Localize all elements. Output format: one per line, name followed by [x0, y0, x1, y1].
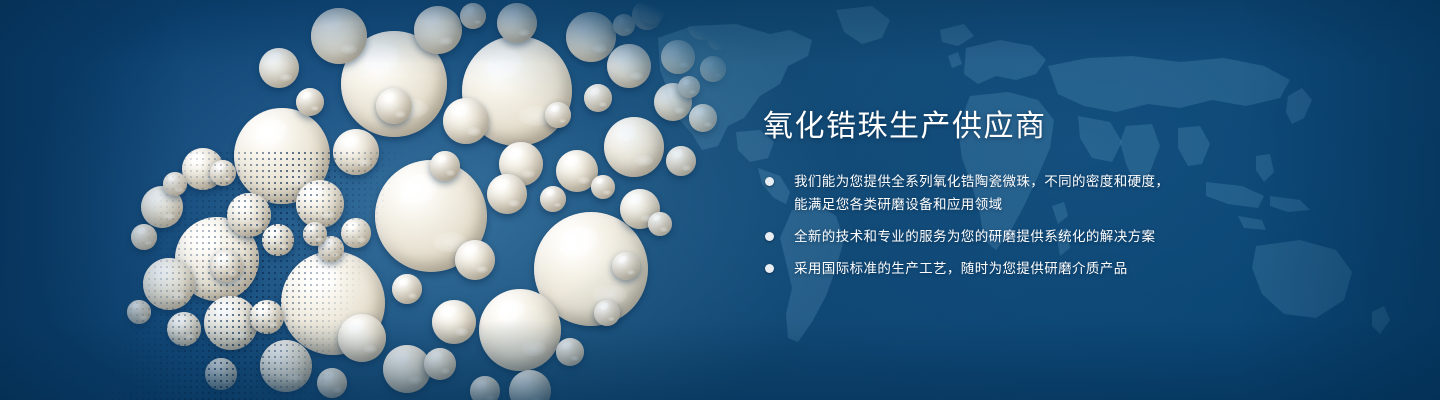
list-item: 全新的技术和专业的服务为您的研磨提供系统化的解决方案: [763, 225, 1363, 248]
page-title: 氧化锆珠生产供应商: [763, 108, 1363, 146]
dot-bullet-icon: [765, 232, 774, 241]
bullet-line: 能满足您各类研磨设备和应用领域: [794, 193, 1363, 216]
list-item: 我们能为您提供全系列氧化锆陶瓷微珠，不同的密度和硬度， 能满足您各类研磨设备和应…: [763, 170, 1363, 216]
dot-bullet-icon: [765, 177, 774, 186]
banner-copy-block: 氧化锆珠生产供应商 我们能为您提供全系列氧化锆陶瓷微珠，不同的密度和硬度， 能满…: [763, 108, 1363, 280]
dot-bullet-icon: [765, 264, 774, 273]
bullet-line: 全新的技术和专业的服务为您的研磨提供系统化的解决方案: [794, 225, 1363, 248]
bead-cluster: [0, 0, 760, 400]
list-item: 采用国际标准的生产工艺，随时为您提供研磨介质产品: [763, 257, 1363, 280]
bullet-line: 我们能为您提供全系列氧化锆陶瓷微珠，不同的密度和硬度，: [794, 170, 1363, 193]
hero-banner: 氧化锆珠生产供应商 我们能为您提供全系列氧化锆陶瓷微珠，不同的密度和硬度， 能满…: [0, 0, 1440, 400]
bullet-line: 采用国际标准的生产工艺，随时为您提供研磨介质产品: [794, 257, 1363, 280]
feature-bullet-list: 我们能为您提供全系列氧化锆陶瓷微珠，不同的密度和硬度， 能满足您各类研磨设备和应…: [763, 170, 1363, 280]
